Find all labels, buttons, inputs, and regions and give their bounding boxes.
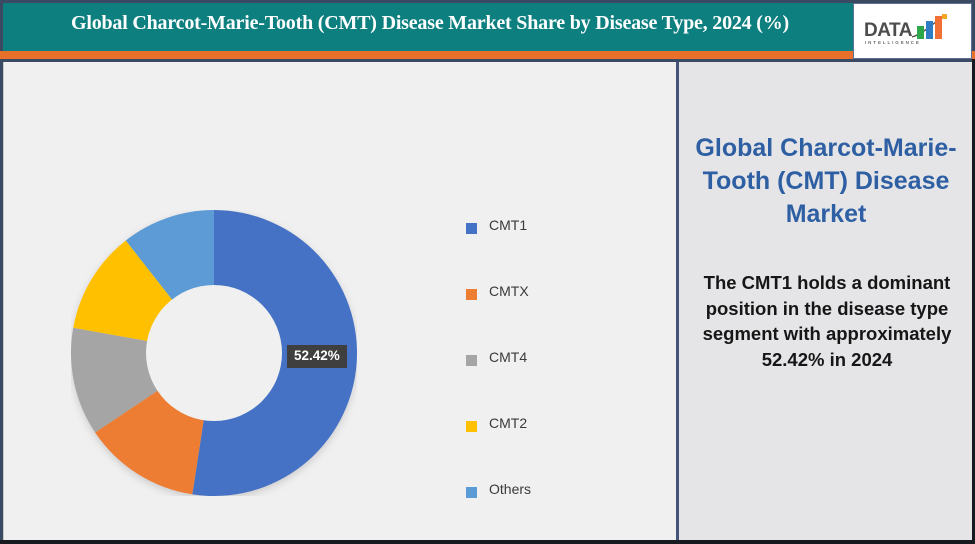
logo-inner: DATA INTELLIGENCE [864, 12, 964, 52]
logo-bar-orange-icon [935, 16, 942, 39]
header-accent-strip [0, 51, 975, 59]
donut-hole [146, 285, 282, 421]
legend-item-cmt4[interactable]: CMT4 [466, 349, 606, 415]
chart-infographic: Global Charcot-Marie-Tooth (CMT) Disease… [0, 0, 975, 544]
legend-swatch-others [466, 487, 477, 498]
insight-heading: Global Charcot-Marie-Tooth (CMT) Disease… [695, 132, 957, 231]
legend-item-cmtx[interactable]: CMTX [466, 283, 606, 349]
legend-item-others[interactable]: Others [466, 481, 606, 544]
header-bar: Global Charcot-Marie-Tooth (CMT) Disease… [0, 0, 975, 51]
insight-body-text: The CMT1 holds a dominant position in th… [695, 270, 959, 372]
data-label-cmt1: 52.42% [287, 345, 347, 368]
legend-swatch-cmt1 [466, 223, 477, 234]
logo-bar-blue-icon [926, 21, 933, 39]
legend-label-cmt2: CMT2 [489, 415, 527, 431]
logo-dot-icon [942, 14, 947, 19]
logo-bar-green-icon [917, 26, 924, 39]
legend-swatch-cmtx [466, 289, 477, 300]
chart-legend: CMT1 CMTX CMT4 CMT2 Others [466, 217, 606, 544]
legend-swatch-cmt4 [466, 355, 477, 366]
legend-label-cmtx: CMTX [489, 283, 529, 299]
legend-label-cmt1: CMT1 [489, 217, 527, 233]
brand-logo: DATA INTELLIGENCE [853, 3, 972, 59]
logo-subtext: INTELLIGENCE [865, 40, 921, 45]
chart-panel: 52.42% CMT1 CMTX CMT4 CMT2 Others [3, 62, 677, 540]
legend-item-cmt1[interactable]: CMT1 [466, 217, 606, 283]
legend-item-cmt2[interactable]: CMT2 [466, 415, 606, 481]
frame-bottom-edge [0, 540, 975, 544]
logo-wordmark: DATA [864, 20, 912, 42]
legend-label-cmt4: CMT4 [489, 349, 527, 365]
legend-swatch-cmt2 [466, 421, 477, 432]
legend-label-others: Others [489, 481, 531, 497]
frame-left-edge [0, 59, 3, 544]
page-title: Global Charcot-Marie-Tooth (CMT) Disease… [11, 12, 849, 35]
insight-panel: Global Charcot-Marie-Tooth (CMT) Disease… [676, 62, 975, 540]
